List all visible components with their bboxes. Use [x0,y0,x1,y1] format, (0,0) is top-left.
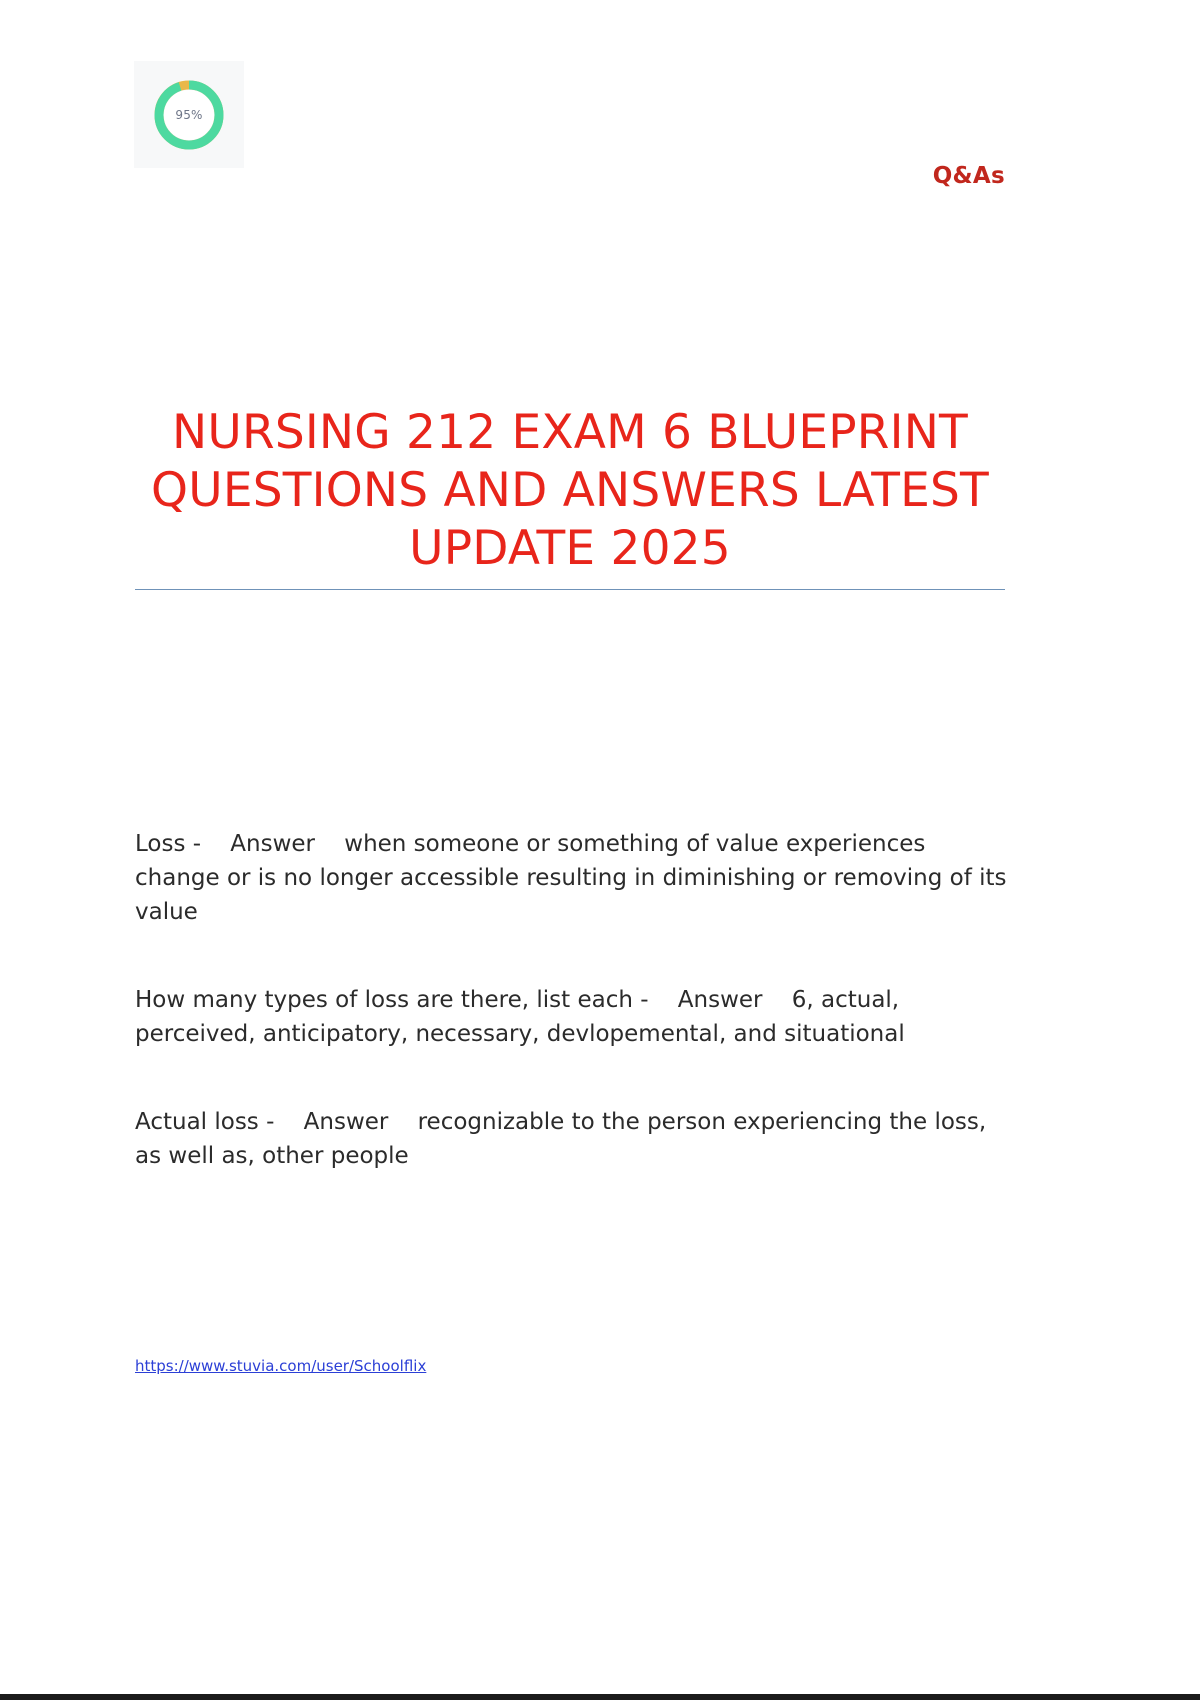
title-line-3: UPDATE 2025 [135,520,1005,578]
qa-entry-types-of-loss: How many types of loss are there, list e… [135,983,1015,1051]
qa-content: Loss - Answer when someone or something … [135,827,1015,1173]
page-bottom-bar [0,1694,1200,1700]
stuvia-profile-link[interactable]: https://www.stuvia.com/user/Schoolflix [135,1357,426,1375]
score-badge: 95% [134,61,244,168]
score-donut: 95% [150,76,228,154]
qas-tag: Q&As [933,163,1005,189]
title-line-1: NURSING 212 EXAM 6 BLUEPRINT [135,404,1005,462]
page-title: NURSING 212 EXAM 6 BLUEPRINT QUESTIONS A… [135,404,1005,578]
qa-entry-loss: Loss - Answer when someone or something … [135,827,1015,929]
document-page: 95% Q&As NURSING 212 EXAM 6 BLUEPRINT QU… [0,0,1200,1700]
title-line-2: QUESTIONS AND ANSWERS LATEST [135,462,1005,520]
title-divider [135,589,1005,590]
score-percent-label: 95% [150,76,228,154]
qa-entry-actual-loss: Actual loss - Answer recognizable to the… [135,1105,1015,1173]
